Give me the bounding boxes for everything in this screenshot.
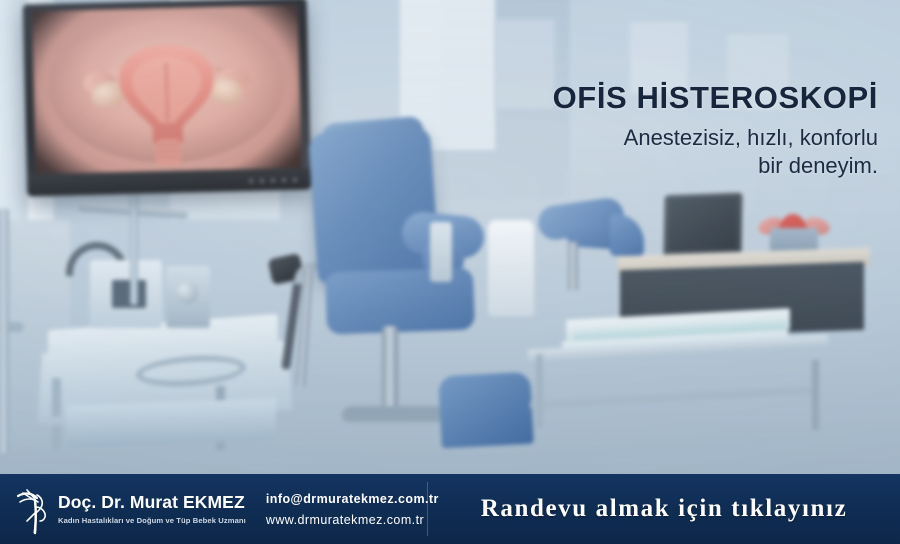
stylized-figure-logo-icon [14, 483, 54, 535]
monitor-indicator-lights [249, 178, 297, 183]
supply-table-leg-left [536, 354, 543, 428]
subtitle-line-1: Anestezisiz, hızlı, konforlu [458, 124, 878, 152]
page-title: OFİS HİSTEROSKOPİ [458, 82, 878, 115]
headline-block: OFİS HİSTEROSKOPİ Anestezisiz, hızlı, ko… [458, 82, 878, 180]
supply-table-leg-right [812, 360, 819, 430]
footer-brand-section: Doç. Dr. Murat EKMEZ Kadın Hastalıkları … [0, 474, 427, 544]
medical-monitor-icon [23, 0, 312, 196]
contact-website[interactable]: www.drmuratekmez.com.tr [266, 513, 439, 527]
contact-email[interactable]: info@drmuratekmez.com.tr [266, 492, 439, 506]
monitor-screen [32, 5, 302, 174]
gynecology-exam-chair-icon [308, 126, 440, 284]
office-hysteroscopy-banner: OFİS HİSTEROSKOPİ Anestezisiz, hızlı, ko… [0, 0, 900, 544]
monitor-pole [0, 208, 9, 453]
exam-chair-seat [325, 267, 475, 334]
laptop-screen [669, 197, 738, 251]
device-a-display [112, 280, 146, 308]
stirrup-post [568, 242, 578, 290]
doctor-specialty: Kadın Hastalıkları ve Doğum ve Tüp Bebek… [58, 516, 246, 525]
monitor-arm-vertical [130, 185, 138, 305]
contact-info-group: info@drmuratekmez.com.tr www.drmuratekme… [266, 492, 439, 527]
subtitle-text: Anestezisiz, hızlı, konforlu bir deneyim… [458, 124, 878, 180]
footer-bar: Doç. Dr. Murat EKMEZ Kadın Hastalıkları … [0, 474, 900, 544]
exam-chair-base [341, 406, 452, 422]
appointment-cta-label: Randevu almak için tıklayınız [481, 495, 848, 523]
clinic-room-photo [0, 0, 900, 474]
doctor-name: Doç. Dr. Murat EKMEZ [58, 493, 246, 512]
folded-linens-left [66, 398, 276, 447]
device-b-knob [176, 282, 198, 304]
exam-chair-footrest [438, 372, 534, 449]
uterus-anatomy-icon [40, 5, 294, 174]
appointment-cta-button[interactable]: Randevu almak için tıklayınız [428, 474, 900, 544]
exam-chair-post [382, 326, 398, 410]
cart-leg-left [52, 378, 61, 450]
equipment-stand [430, 222, 452, 282]
brand-text-group: Doç. Dr. Murat EKMEZ Kadın Hastalıkları … [58, 493, 246, 524]
white-dispenser-bin [488, 220, 534, 316]
subtitle-line-2: bir deneyim. [458, 152, 878, 180]
photo-blur-layer [0, 0, 900, 474]
